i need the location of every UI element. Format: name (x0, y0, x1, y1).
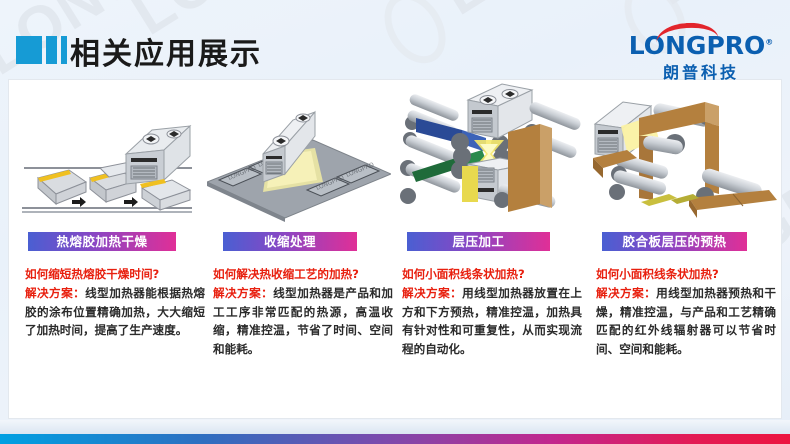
panel-question: 如何小面积线条状加热? (596, 265, 776, 284)
logo-chinese-name: 朗普科技 (626, 59, 776, 83)
accent-bar-medium (46, 36, 57, 64)
solution-label: 解决方案： (596, 286, 656, 300)
panel-badge: 收缩处理 (223, 232, 357, 251)
panel-shrink-processing: LONGPRO LONGPRO LONGPRO LONGPRO (201, 82, 394, 382)
accent-bar-wide (16, 36, 42, 64)
shrink-tunnel-heater-illustration: LONGPRO LONGPRO LONGPRO LONGPRO (207, 82, 391, 225)
panel-plywood-preheat: 胶合板层压的预热 如何小面积线条状加热? 解决方案：用线型加热器预热和干燥，精准… (587, 82, 780, 382)
page-title: 相关应用展示 (70, 29, 262, 73)
panel-lamination: 层压加工 如何小面积线条状加热? 解决方案：用线型加热器放置在上方和下方预热，精… (394, 82, 587, 382)
panel-badge: 热熔胶加热干燥 (28, 232, 176, 251)
solution-label: 解决方案： (402, 286, 462, 300)
application-panels: 热熔胶加热干燥 如何缩短热熔胶干燥时间? 解决方案：线型加热器能根据热熔胶的涂布… (8, 82, 782, 382)
title-accent-bars (16, 36, 67, 64)
panel-text: 如何解决热收缩工艺的加热? 解决方案：线型加热器是产品和加工工序非常匹配的热源，… (213, 265, 393, 359)
solution-label: 解决方案： (213, 286, 273, 300)
company-logo: LONGPRO® 朗普科技 (626, 24, 776, 74)
panel-question: 如何解决热收缩工艺的加热? (213, 265, 393, 284)
conveyor-hotmelt-heater-illustration (14, 82, 198, 225)
plywood-web-preheat-illustration (593, 82, 777, 225)
panel-question: 如何缩短热熔胶干燥时间? (25, 265, 205, 284)
panel-text: 如何小面积线条状加热? 解决方案：用线型加热器预热和干燥，精准控温，与产品和工艺… (596, 265, 776, 359)
accent-bar-narrow (61, 36, 67, 64)
panel-question: 如何小面积线条状加热? (402, 265, 582, 284)
panel-text: 如何小面积线条状加热? 解决方案：用线型加热器放置在上方和下方预热，精准控温，加… (402, 265, 582, 359)
panel-badge: 胶合板层压的预热 (602, 232, 747, 251)
panel-text: 如何缩短热熔胶干燥时间? 解决方案：线型加热器能根据热熔胶的涂布位置精确加热，大… (25, 265, 205, 340)
panel-badge: 层压加工 (407, 232, 550, 251)
solution-label: 解决方案： (25, 286, 85, 300)
logo-swoosh-icon (655, 21, 718, 46)
slide-header: 相关应用展示 LONGPRO® 朗普科技 (0, 0, 790, 80)
footer-gradient-bar (0, 434, 790, 444)
registered-trademark-icon: ® (765, 38, 773, 47)
roller-lamination-dual-heater-illustration (400, 82, 584, 225)
panel-hotmelt-drying: 热熔胶加热干燥 如何缩短热熔胶干燥时间? 解决方案：线型加热器能根据热熔胶的涂布… (8, 82, 201, 382)
footer-soft-band (0, 420, 790, 434)
